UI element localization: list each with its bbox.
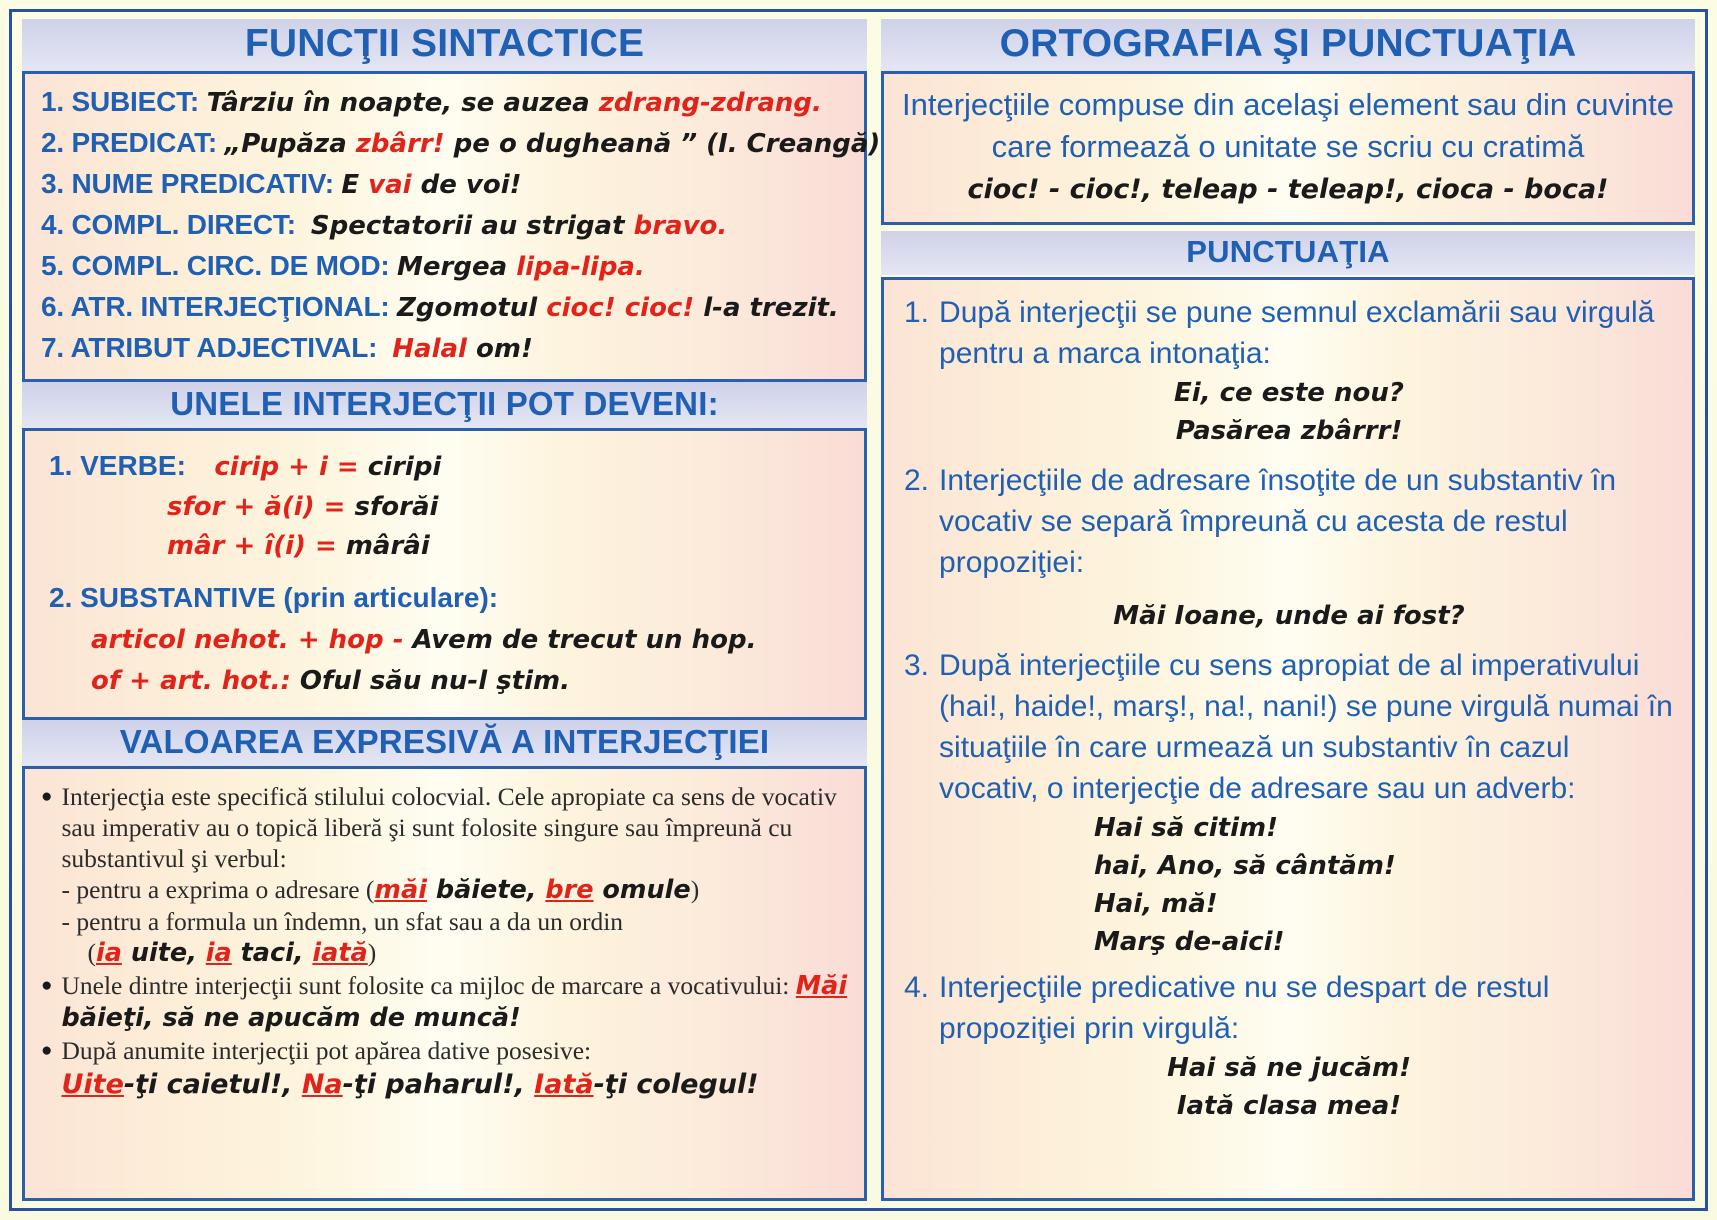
functii-example-red: vai: [368, 170, 411, 200]
substantive-formula-black: Avem de trecut un hop.: [403, 625, 756, 655]
heading-ortografia-punctuatia: ORTOGRAFIA ŞI PUNCTUAŢIA: [881, 19, 1695, 71]
ex-red-3: Iată: [534, 1069, 593, 1100]
valoare-subline: - pentru a exprima o adresare (măi băiet…: [61, 874, 848, 906]
valoare-item-body: Unele dintre interjecţii sunt folosite c…: [61, 970, 848, 1034]
heading-functii-sintactice: FUNCŢII SINTACTICE: [22, 19, 867, 71]
functii-example-red: cioc! cioc!: [546, 293, 694, 323]
functii-label: 4. COMPL. DIRECT:: [41, 209, 296, 240]
sub-red-3: iată: [312, 938, 367, 968]
rule-number: 2.: [904, 460, 929, 583]
valoare-bullet-item: ● Interjecţia este specifică stilului co…: [41, 781, 848, 969]
functii-example-pre: Mergea: [397, 252, 516, 282]
panel-pot-deveni: 1. VERBE: cirip + i = ciripi sfor + ă(i)…: [22, 428, 867, 720]
substantive-heading: 2. SUBSTANTIVE (prin articulare):: [49, 577, 850, 619]
panel-ortografia: Interjecţiile compuse din acelaşi elemen…: [881, 71, 1695, 225]
valoare-main-text: Unele dintre interjecţii sunt folosite c…: [61, 971, 795, 1000]
sub-mid-1: băiete,: [427, 875, 545, 905]
functii-label: 7. ATRIBUT ADJECTIVAL:: [41, 332, 377, 363]
verbe-formula-black: mârâi: [337, 531, 430, 561]
verbe-formula-black: sforăi: [345, 492, 438, 522]
functii-example-pre: Zgomotul: [397, 293, 546, 323]
valoare-subline: (ia uite, ia taci, iată): [61, 937, 848, 969]
functii-label: 6. ATR. INTERJECŢIONAL:: [41, 291, 390, 322]
poster-root: FUNCŢII SINTACTICE 1. SUBIECT: Târziu în…: [0, 0, 1717, 1220]
ortografia-example: cioc! - cioc!, teleap - teleap!, cioca -…: [894, 170, 1682, 214]
substantive-line: articol nehot. + hop - Avem de trecut un…: [91, 619, 850, 660]
functii-example-pre: „Pupăza: [225, 129, 356, 159]
heading-punctuatia: PUNCTUAŢIA: [881, 231, 1695, 275]
functii-row: 1. SUBIECT: Târziu în noapte, se auzea z…: [41, 82, 850, 123]
punctuatia-rule: 2. Interjecţiile de adresare însoţite de…: [904, 460, 1674, 583]
punctuatia-rules: 1. După interjecţii se pune semnul excla…: [894, 286, 1682, 1133]
ex-mid-3: -ţi colegul!: [594, 1069, 759, 1100]
rule-example: Măi Ioane, unde ai fost?: [904, 583, 1674, 635]
rule-example: Iată clasa mea!: [904, 1087, 1674, 1125]
valoare-example-line: Uite-ţi caietul!, Na-ţi paharul!, Iată-ţ…: [61, 1066, 848, 1103]
left-column: FUNCŢII SINTACTICE 1. SUBIECT: Târziu în…: [22, 19, 867, 1201]
functii-label: 3. NUME PREDICATIV:: [41, 168, 334, 199]
poster-columns: FUNCŢII SINTACTICE 1. SUBIECT: Târziu în…: [16, 14, 1701, 1206]
functii-example-pre: Târziu în noapte, se auzea: [207, 88, 599, 118]
functii-example-red: lipa-lipa.: [516, 252, 645, 282]
sub-post: ): [368, 938, 377, 967]
valoare-list: ● Interjecţia este specifică stilului co…: [35, 775, 854, 1110]
substantive-line: of + art. hot.: Oful său nu-l ştim.: [91, 660, 850, 701]
functii-example-post: l-a trezit.: [694, 293, 839, 323]
sub-red-1: ia: [96, 938, 122, 968]
rule-example: Hai, mă!: [904, 885, 1674, 923]
rule-text: Interjecţiile de adresare însoţite de un…: [939, 460, 1674, 583]
verbe-heading: 1. VERBE:: [49, 450, 186, 481]
bullet-icon: ●: [41, 970, 52, 1034]
functii-example-pre: Spectatorii au strigat: [311, 211, 634, 241]
rule-example: Pasărea zbârrr!: [904, 412, 1674, 450]
functii-row: 6. ATR. INTERJECŢIONAL: Zgomotul cioc! c…: [41, 287, 850, 328]
bullet-icon: ●: [41, 781, 52, 969]
functii-row: 5. COMPL. CIRC. DE MOD: Mergea lipa-lipa…: [41, 246, 850, 287]
panel-valoarea-expresiva: ● Interjecţia este specifică stilului co…: [22, 766, 867, 1201]
ex-red-2: Na: [302, 1069, 343, 1100]
rule-example: Hai să ne jucăm!: [904, 1049, 1674, 1087]
heading-pot-deveni: UNELE INTERJECŢII POT DEVENI:: [22, 382, 867, 428]
rule-example: Hai să citim!: [904, 809, 1674, 847]
verbe-formula-black: ciripi: [359, 452, 442, 482]
valoare-red-word: Măi: [796, 971, 847, 1001]
rule-text: Interjecţiile predicative nu se despart …: [939, 967, 1674, 1049]
ex-mid-1: -ţi caietul!,: [124, 1069, 302, 1100]
spacer: [904, 450, 1674, 460]
substantive-formula-black: Oful său nu-l ştim.: [291, 666, 570, 696]
rule-text: După interjecţii se pune semnul exclamăr…: [939, 292, 1674, 374]
sub-red-2: bre: [545, 875, 593, 905]
functii-example-post: om!: [467, 334, 533, 364]
rule-example: Ei, ce este nou?: [904, 374, 1674, 412]
functii-example-pre: E: [341, 170, 368, 200]
functii-example-red: zbârr!: [356, 129, 445, 159]
valoare-example-rest: băieţi, să ne apucăm de muncă!: [61, 1003, 520, 1033]
rule-number: 4.: [904, 967, 929, 1049]
functii-row: 3. NUME PREDICATIV: E vai de voi!: [41, 164, 850, 205]
substantive-formula-red: of + art. hot.:: [91, 666, 291, 696]
valoare-item-body: Interjecţia este specifică stilului colo…: [61, 781, 848, 969]
valoare-bullet-item: ● Unele dintre interjecţii sunt folosite…: [41, 970, 848, 1034]
rule-example: hai, Ano, să cântăm!: [904, 847, 1674, 885]
sub-mid-2: taci,: [232, 938, 313, 968]
valoare-main-text: După anumite interjecţii pot apărea dati…: [61, 1036, 591, 1065]
rule-text: După interjecţiile cu sens apropiat de a…: [939, 645, 1674, 809]
functii-example-post: de voi!: [412, 170, 522, 200]
right-column: ORTOGRAFIA ŞI PUNCTUAŢIA Interjecţiile c…: [881, 19, 1695, 1201]
bullet-icon: ●: [41, 1035, 52, 1103]
functii-label: 2. PREDICAT:: [41, 127, 217, 158]
panel-functii-sintactice: 1. SUBIECT: Târziu în noapte, se auzea z…: [22, 71, 867, 382]
functii-row: 2. PREDICAT: „Pupăza zbârr! pe o dughean…: [41, 123, 850, 164]
ortografia-rule-text: Interjecţiile compuse din acelaşi elemen…: [894, 80, 1682, 170]
rule-number: 3.: [904, 645, 929, 809]
valoare-subline: - pentru a formula un îndemn, un sfat sa…: [61, 906, 848, 937]
sub-mid-1: uite,: [122, 938, 206, 968]
punctuatia-rule: 3. După interjecţiile cu sens apropiat d…: [904, 645, 1674, 809]
functii-example-red: bravo.: [634, 211, 728, 241]
functii-example-post: pe o dugheană ” (I. Creangă): [445, 129, 881, 159]
functii-label: 5. COMPL. CIRC. DE MOD:: [41, 250, 390, 281]
functii-example-red: zdrang-zdrang.: [599, 88, 822, 118]
punctuatia-rule: 1. După interjecţii se pune semnul excla…: [904, 292, 1674, 374]
ex-red-1: Uite: [61, 1069, 123, 1100]
valoare-bullet-item: ● După anumite interjecţii pot apărea da…: [41, 1035, 848, 1103]
ex-mid-2: -ţi paharul!,: [343, 1069, 535, 1100]
valoare-item-body: După anumite interjecţii pot apărea dati…: [61, 1035, 848, 1103]
sub-red-1: măi: [374, 875, 427, 905]
heading-valoarea-expresiva: VALOAREA EXPRESIVĂ A INTERJECŢIEI: [22, 720, 867, 766]
functii-row: 4. COMPL. DIRECT: Spectatorii au strigat…: [41, 205, 850, 246]
verbe-formula-red: sfor + ă(i) =: [167, 492, 345, 522]
punctuatia-rule: 4. Interjecţiile predicative nu se despa…: [904, 967, 1674, 1049]
functii-example-red: Halal: [392, 334, 467, 364]
pot-deveni-body: 1. VERBE: cirip + i = ciripi sfor + ă(i)…: [35, 437, 854, 709]
verbe-line: sfor + ă(i) = sforăi: [167, 487, 850, 526]
panel-punctuatia: 1. După interjecţii se pune semnul excla…: [881, 277, 1695, 1201]
functii-list: 1. SUBIECT: Târziu în noapte, se auzea z…: [35, 80, 854, 371]
sub-mid-2: omule: [594, 875, 691, 905]
verbe-line: mâr + î(i) = mârâi: [167, 526, 850, 565]
sub-red-2: ia: [206, 938, 232, 968]
valoare-main-text: Interjecţia este specifică stilului colo…: [61, 782, 836, 873]
verbe-formula-red: mâr + î(i) =: [167, 531, 337, 561]
spacer: [904, 635, 1674, 645]
sub-pre: (: [87, 938, 96, 967]
functii-label: 1. SUBIECT:: [41, 86, 199, 117]
sub-post: ): [691, 875, 700, 904]
sub-pre: - pentru a exprima o adresare (: [61, 875, 374, 904]
rule-number: 1.: [904, 292, 929, 374]
functii-row: 7. ATRIBUT ADJECTIVAL: Halal om!: [41, 328, 850, 369]
substantive-formula-red: articol nehot. + hop -: [91, 625, 403, 655]
verbe-formula-red: cirip + i =: [214, 452, 358, 482]
rule-example: Marş de-aici!: [904, 923, 1674, 961]
